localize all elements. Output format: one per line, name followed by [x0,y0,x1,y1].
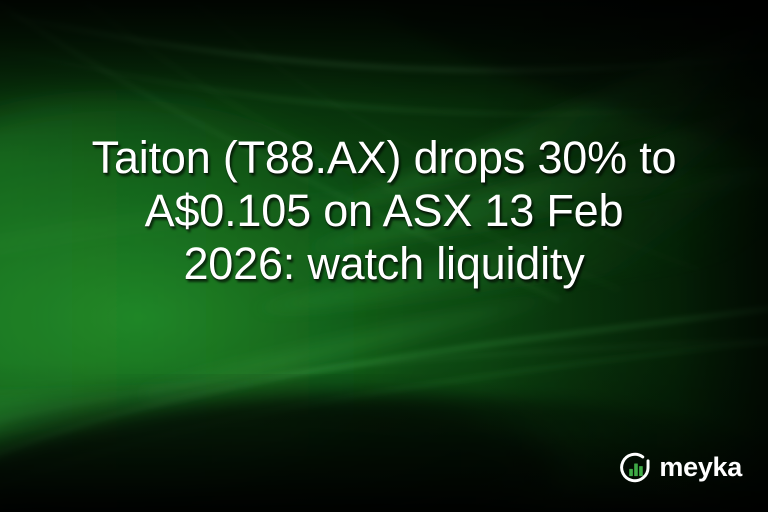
brand-logo[interactable]: meyka [619,451,742,484]
social-share-card: Taiton (T88.AX) drops 30% to A$0.105 on … [0,0,768,512]
page-title: Taiton (T88.AX) drops 30% to A$0.105 on … [34,131,734,290]
headline-container: Taiton (T88.AX) drops 30% to A$0.105 on … [0,0,768,420]
circle-bar-chart-icon [619,451,652,484]
headline-line-3: 2026: watch liquidity [34,237,734,290]
headline-line-1: Taiton (T88.AX) drops 30% to [34,131,734,184]
headline-line-2: A$0.105 on ASX 13 Feb [34,184,734,237]
brand-wordmark: meyka [659,454,742,481]
